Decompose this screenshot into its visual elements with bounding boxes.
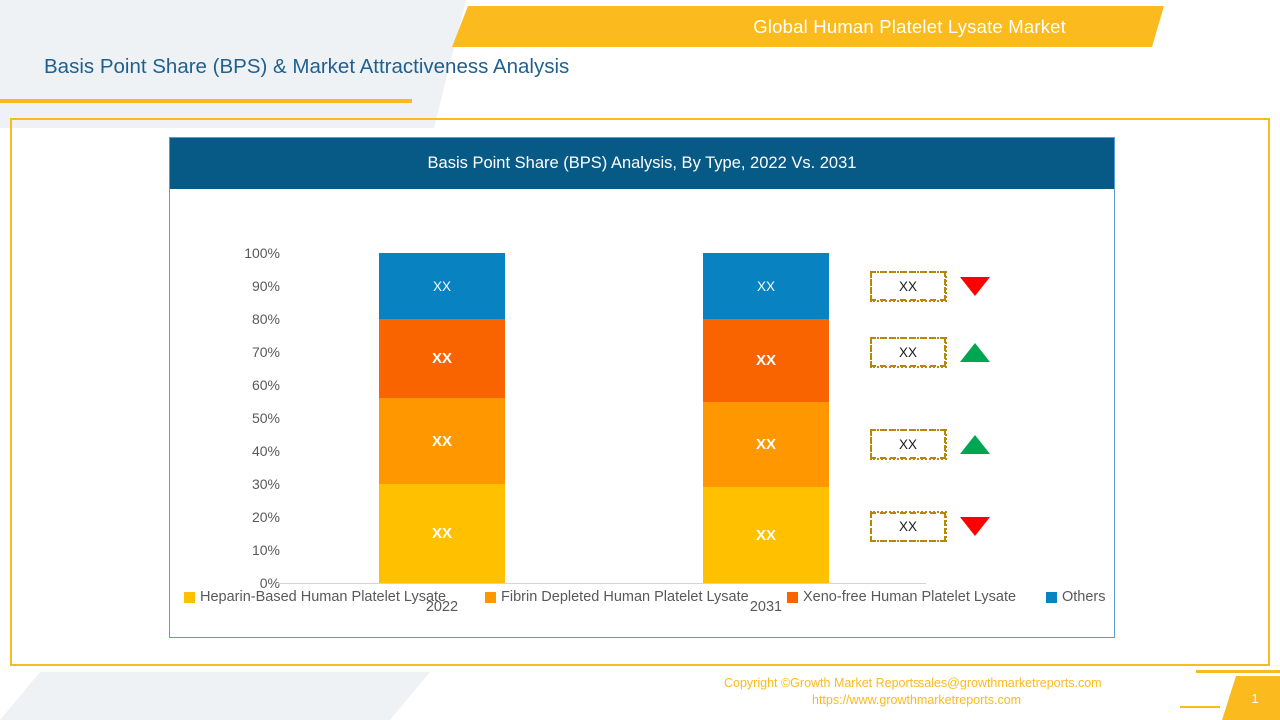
trend-down-icon (960, 517, 990, 536)
bar-segment[interactable]: XX (703, 487, 829, 583)
bar-segment[interactable]: XX (379, 484, 505, 583)
legend-swatch (787, 592, 798, 603)
y-axis-tick: 30% (252, 476, 280, 492)
trend-down-icon (960, 277, 990, 296)
attractiveness-row: XX (870, 271, 990, 301)
y-axis-tick: 10% (252, 542, 280, 558)
attractiveness-row: XX (870, 429, 990, 459)
legend-item[interactable]: Fibrin Depleted Human Platelet Lysate (485, 589, 749, 605)
y-axis-tick: 60% (252, 377, 280, 393)
attractiveness-value-box: XX (870, 271, 946, 301)
legend-label: Xeno-free Human Platelet Lysate (803, 589, 1016, 605)
attractiveness-value-box: XX (870, 429, 946, 459)
bar-segment-label: XX (432, 525, 452, 542)
legend-swatch (1046, 592, 1057, 603)
bar-segment[interactable]: XX (703, 253, 829, 319)
bar-segment-label: XX (432, 433, 452, 450)
bar-segment-label: XX (756, 352, 776, 369)
attractiveness-value-box: XX (870, 337, 946, 367)
chart-panel: Basis Point Share (BPS) Analysis, By Typ… (169, 137, 1115, 638)
trend-up-icon (960, 435, 990, 454)
attractiveness-value: XX (896, 519, 920, 534)
stacked-bar[interactable]: XXXXXXXX (379, 253, 505, 583)
chart-header: Basis Point Share (BPS) Analysis, By Typ… (170, 138, 1114, 189)
trend-up-icon (960, 343, 990, 362)
bar-segment-label: XX (756, 436, 776, 453)
title-underline-rule (0, 99, 412, 103)
legend-item[interactable]: Others (1046, 589, 1106, 605)
bar-segment-label: XX (433, 279, 451, 294)
y-axis: 0%10%20%30%40%50%60%70%80%90%100% (210, 253, 280, 583)
attractiveness-row: XX (870, 512, 990, 542)
footer-url[interactable]: https://www.growthmarketreports.com (812, 693, 1021, 707)
market-attractiveness-column: XXXXXXXX (870, 253, 1090, 583)
bar-segment-label: XX (432, 350, 452, 367)
bar-segment-label: XX (756, 527, 776, 544)
slide-canvas: Global Human Platelet Lysate Market Basi… (0, 0, 1280, 720)
chart-title: Basis Point Share (BPS) Analysis, By Typ… (428, 154, 857, 173)
plot-area: 0%10%20%30%40%50%60%70%80%90%100% XXXXXX… (170, 189, 1114, 637)
footer-accent-bar-2 (1180, 706, 1220, 708)
bar-segment[interactable]: XX (703, 319, 829, 402)
chart-body: 0%10%20%30%40%50%60%70%80%90%100% XXXXXX… (170, 189, 1114, 637)
legend-swatch (485, 592, 496, 603)
attractiveness-value: XX (896, 279, 920, 294)
chart-legend: Heparin-Based Human Platelet LysateFibri… (170, 589, 1114, 611)
legend-item[interactable]: Heparin-Based Human Platelet Lysate (184, 589, 446, 605)
legend-label: Fibrin Depleted Human Platelet Lysate (501, 589, 749, 605)
x-axis-line (278, 583, 926, 584)
y-axis-tick: 40% (252, 443, 280, 459)
bars-layer: XXXXXXXXXXXXXXXX (278, 253, 926, 583)
y-axis-tick: 90% (252, 278, 280, 294)
y-axis-tick: 50% (252, 410, 280, 426)
attractiveness-value: XX (896, 437, 920, 452)
bar-segment[interactable]: XX (379, 319, 505, 398)
legend-label: Heparin-Based Human Platelet Lysate (200, 589, 446, 605)
footer-email[interactable]: sales@growthmarketreports.com (918, 676, 1102, 690)
attractiveness-value: XX (896, 345, 920, 360)
y-axis-tick: 20% (252, 509, 280, 525)
y-axis-tick: 80% (252, 311, 280, 327)
footer-accent-bar (1196, 670, 1280, 673)
page-number: 1 (1243, 691, 1258, 706)
bar-segment-label: XX (757, 279, 775, 294)
legend-item[interactable]: Xeno-free Human Platelet Lysate (787, 589, 1016, 605)
footer-copyright: Copyright ©Growth Market Reports (724, 676, 919, 690)
stacked-bar[interactable]: XXXXXXXX (703, 253, 829, 583)
bar-segment[interactable]: XX (379, 253, 505, 319)
header-banner: Global Human Platelet Lysate Market (452, 6, 1164, 47)
bar-segment[interactable]: XX (703, 402, 829, 488)
attractiveness-value-box: XX (870, 512, 946, 542)
header-banner-title: Global Human Platelet Lysate Market (753, 16, 1066, 38)
attractiveness-row: XX (870, 337, 990, 367)
page-title: Basis Point Share (BPS) & Market Attract… (44, 55, 569, 79)
y-axis-tick: 100% (244, 245, 280, 261)
y-axis-tick: 70% (252, 344, 280, 360)
footer: Copyright ©Growth Market Reports sales@g… (0, 672, 1280, 720)
bar-segment[interactable]: XX (379, 398, 505, 484)
legend-swatch (184, 592, 195, 603)
legend-label: Others (1062, 589, 1106, 605)
